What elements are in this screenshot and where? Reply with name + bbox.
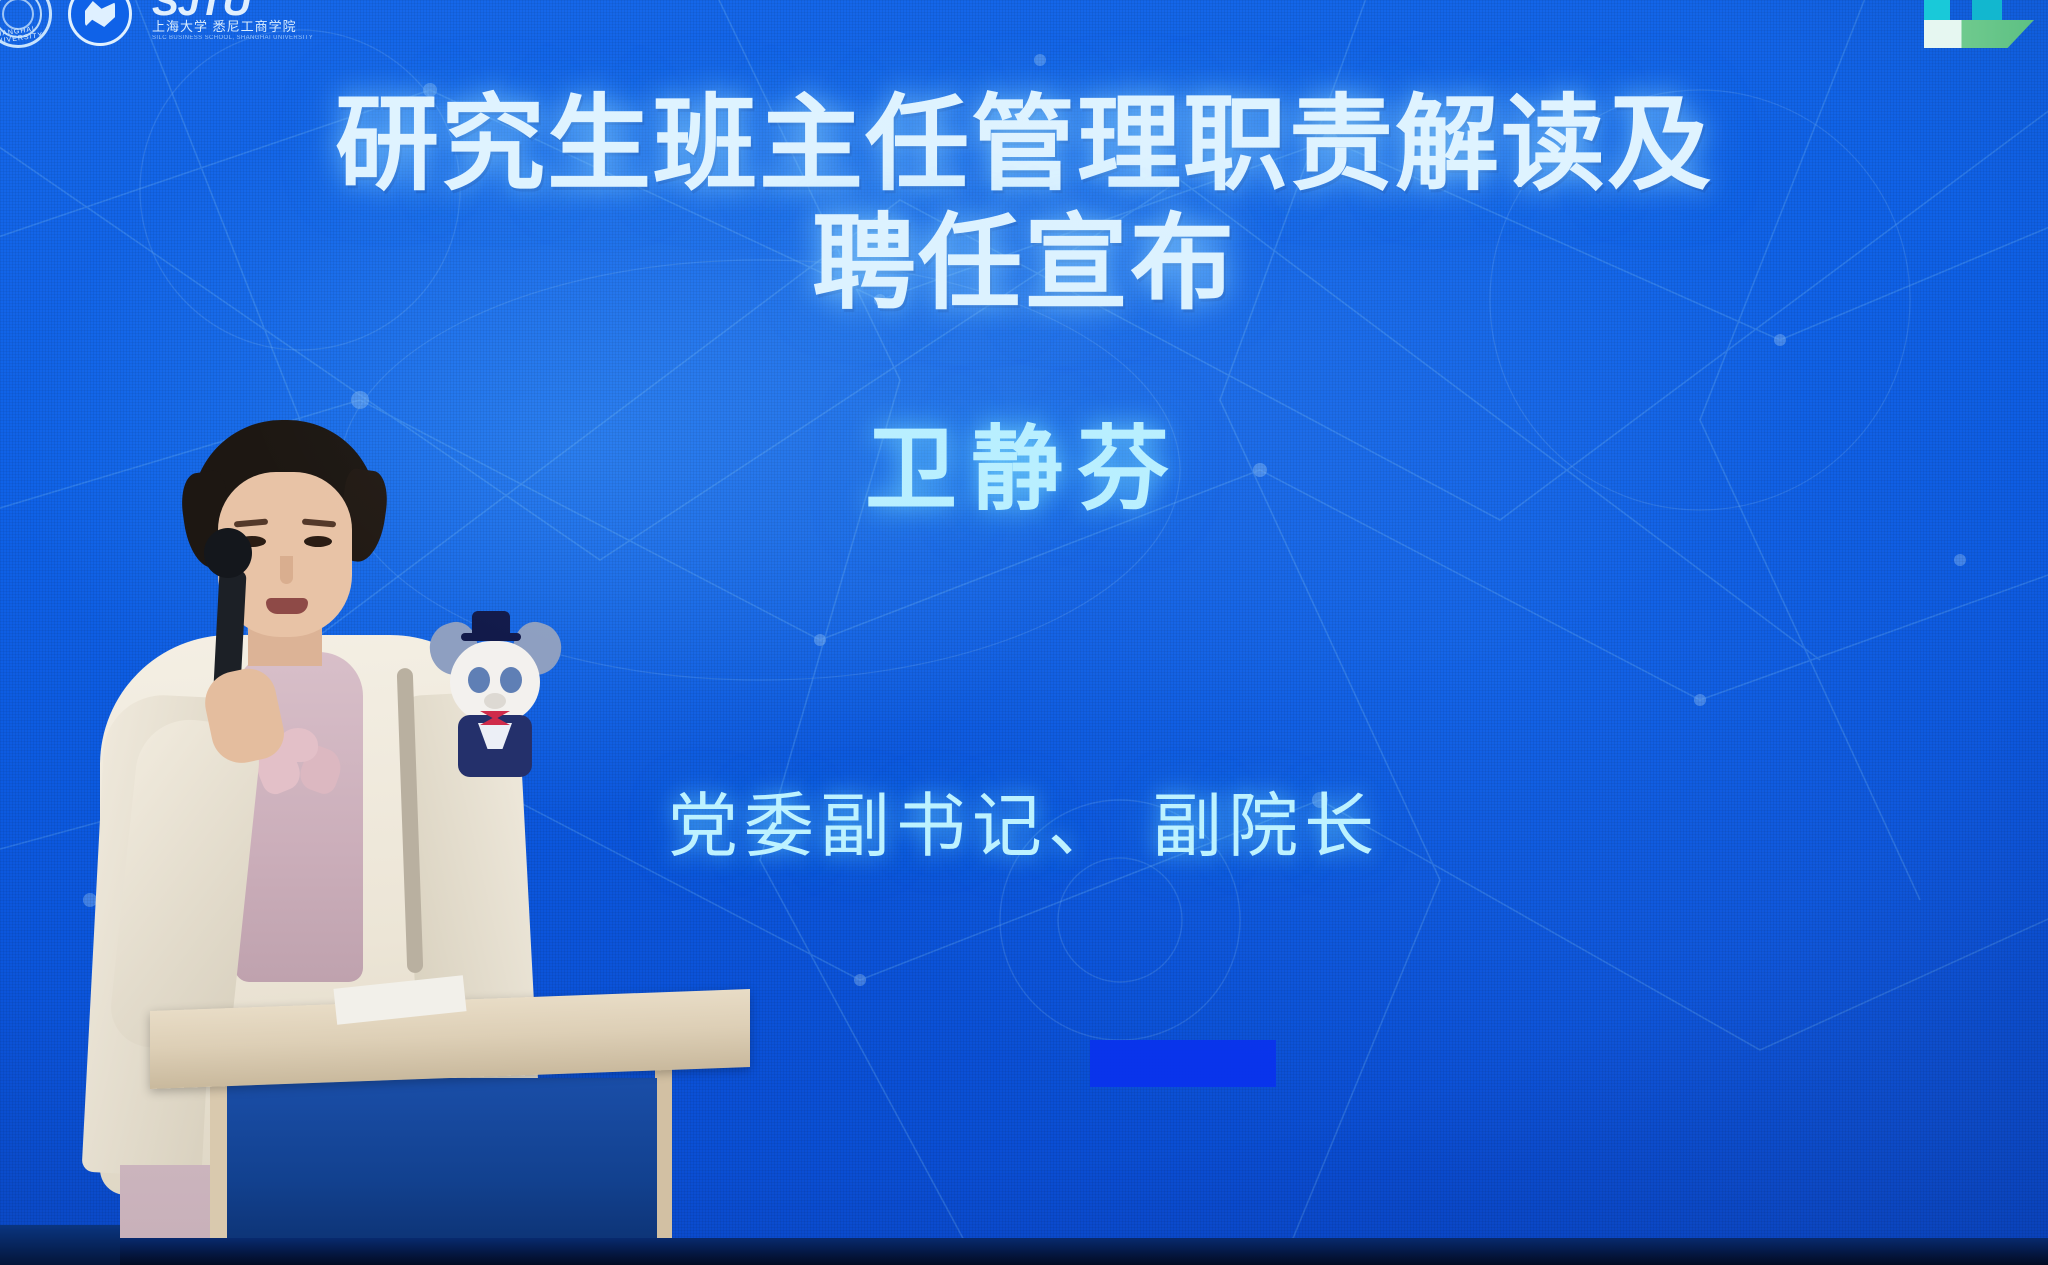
slide-title-line-1: 研究生班主任管理职责解读及 — [0, 85, 2048, 204]
wooden-podium — [150, 1000, 750, 1265]
teal-green-brand-icon — [1900, 0, 2048, 52]
university-seal-text: SHANGHAI UNIVERSITY — [0, 24, 50, 46]
panda-mascot-doll — [428, 615, 563, 775]
sjtu-wordmark-block: SJTU 上海大学 悉尼工商学院 SILC BUSINESS SCHOOL, S… — [152, 0, 313, 41]
sjtu-wordmark: SJTU — [152, 0, 313, 18]
screenshot-root: 研究生班主任管理职责解读及 聘任宣布 卫静芬 党委副书记、 副院长 SHANGH… — [0, 0, 2048, 1265]
university-seal-icon: SHANGHAI UNIVERSITY — [0, 0, 52, 48]
silc-emblem-icon — [68, 0, 132, 46]
stage-floor-left — [0, 1225, 120, 1265]
sjtu-english-name: SILC BUSINESS SCHOOL, SHANGHAI UNIVERSIT… — [152, 35, 313, 42]
stage-floor — [0, 1238, 2048, 1265]
dark-blue-panel — [1090, 1040, 1276, 1087]
slide-title-line-2: 聘任宣布 — [0, 204, 2048, 323]
slide-title: 研究生班主任管理职责解读及 聘任宣布 — [0, 85, 2048, 322]
logo-group: SHANGHAI UNIVERSITY SJTU 上海大学 悉尼工商学院 SIL… — [0, 0, 313, 46]
